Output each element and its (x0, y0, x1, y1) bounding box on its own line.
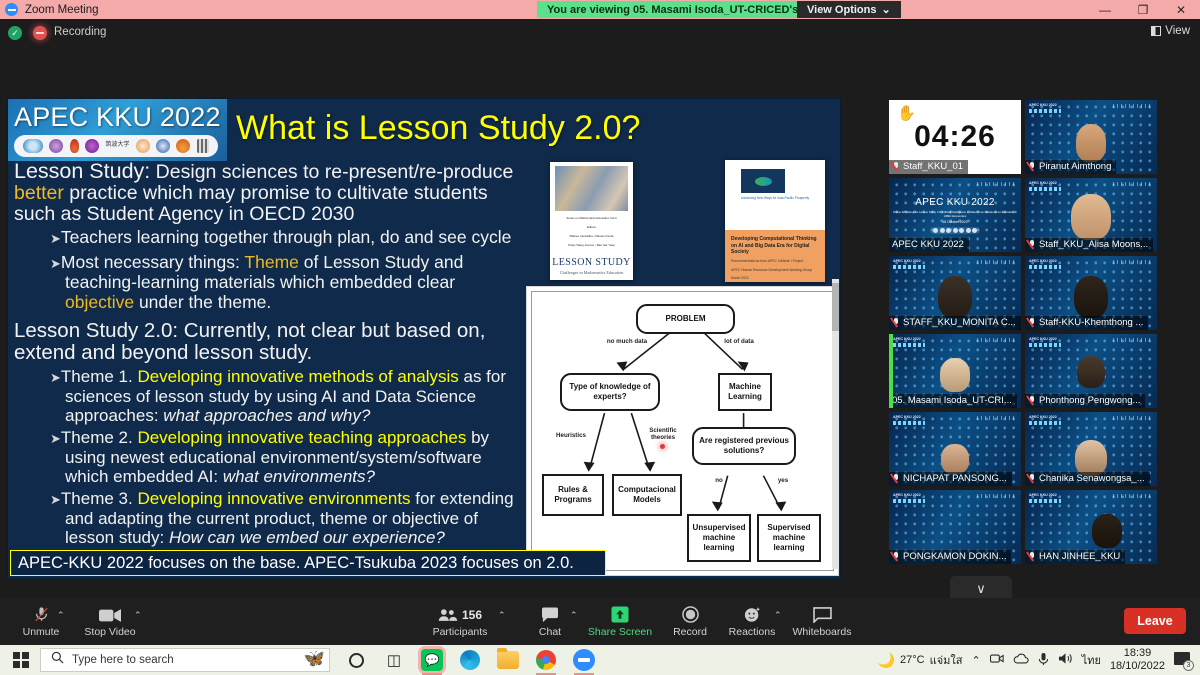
microsoft-edge-icon[interactable] (458, 648, 482, 672)
participant-tile-chanika-senawongsa[interactable]: APEC KKU 2022 Chanika Senawongsa_... (1025, 412, 1157, 486)
reactions-options-caret[interactable]: ⌃ (774, 610, 782, 621)
participant-silhouette (1077, 356, 1105, 388)
participant-tile-alisa-moons[interactable]: APEC KKU 2022 Staff_KKU_Alisa Moons... (1025, 178, 1157, 252)
slide-header: APEC KKU 2022 筑波大学 What is Lesson Study … (8, 99, 840, 161)
participant-name-label: Staff-KKU-Khemthong ... (1025, 316, 1148, 330)
theme-2-question: what environments? (223, 467, 375, 486)
book-editors-label: Editors (556, 225, 627, 229)
participant-tile-masami-isoda-active-speaker[interactable]: APEC KKU 2022 05. Masami Isoda_UT-CRI... (889, 334, 1021, 408)
participant-name-label: 05. Masami Isoda_UT-CRI... (889, 394, 1017, 408)
participant-name-text: Chanika Senawongsa_... (1039, 473, 1145, 484)
lesson-study-definition: Lesson Study: Design sciences to re-pres… (14, 161, 522, 225)
university-logo-4-icon (156, 139, 170, 153)
tray-expand-caret[interactable]: ⌃ (971, 654, 980, 667)
notification-center-icon[interactable]: 3 (1174, 652, 1192, 668)
participant-tile-staff-kku-01[interactable]: ✋ 04:26 Staff_KKU_01 (889, 100, 1021, 174)
mic-muted-icon (892, 551, 900, 562)
participant-tile-khemthong[interactable]: APEC KKU 2022 Staff-KKU-Khemthong ... (1025, 256, 1157, 330)
chat-label: Chat (539, 626, 561, 638)
close-button[interactable]: ✕ (1162, 0, 1200, 19)
bullet-most-necessary-things: ➤Most necessary things: Theme of Lesson … (50, 253, 522, 313)
apec-emblem-icon (741, 169, 785, 193)
participant-silhouette (938, 276, 972, 318)
flow-edge-heuristics: Heuristics (548, 432, 594, 439)
book-group-label: APEC Human Resource Development Working … (731, 268, 819, 273)
mic-muted-icon (1028, 239, 1036, 250)
view-options-label: View Options (807, 4, 876, 16)
bullet-2-highlight-theme: Theme (244, 252, 298, 272)
participant-name-label: PONGKAMON DOKIN... (889, 550, 1011, 564)
view-layout-button[interactable]: View (1151, 25, 1190, 37)
mic-muted-icon (1028, 473, 1036, 484)
mic-muted-icon (892, 161, 900, 172)
participant-silhouette (940, 358, 970, 392)
slide-body: Lesson Study: Design sciences to re-pres… (8, 161, 840, 578)
zoom-control-toolbar: Unmute ⌃ Stop Video ⌃ (0, 598, 1200, 645)
line-app-icon[interactable]: 💬 (420, 648, 444, 672)
whiteboards-button[interactable]: Whiteboards (786, 602, 858, 642)
participant-name-text: 05. Masami Isoda_UT-CRI... (892, 395, 1012, 406)
whiteboards-label: Whiteboards (793, 626, 852, 638)
university-logo-3-icon (136, 139, 150, 153)
view-options-button[interactable]: View Options ⌄ (797, 1, 901, 18)
participant-name-label: APEC KKU 2022 (889, 238, 969, 252)
theme-1-highlight: Developing innovative methods of analysi… (137, 367, 458, 386)
sponsor-logo-bar: 筑波大学 (14, 135, 218, 157)
participants-options-caret[interactable]: ⌃ (498, 610, 506, 621)
participant-name-label: Staff_KKU_Alisa Moons... (1025, 238, 1153, 252)
participant-name-text: APEC KKU 2022 (892, 239, 964, 250)
share-screen-icon (611, 606, 629, 623)
ai-decision-flowchart: PROBLEM no much data lot of data Type of… (526, 286, 839, 576)
system-tray: 🌙 27°C แจ่มใส ⌃ (878, 647, 1200, 673)
participant-name-text: NICHAPAT PANSONG... (903, 473, 1007, 484)
record-circle-icon (682, 606, 699, 623)
bullet-2-text-c: under the theme. (134, 292, 271, 312)
theme-3-highlight: Developing innovative environments (137, 489, 410, 508)
clock-time: 18:39 (1110, 647, 1165, 660)
flow-node-supervised-learning: Supervised machine learning (757, 514, 821, 562)
recording-indicator-icon[interactable] (33, 26, 47, 40)
participant-silhouette (1076, 124, 1106, 162)
partner-logo-icon (197, 139, 209, 153)
leave-meeting-button[interactable]: Leave (1124, 608, 1186, 634)
file-explorer-icon[interactable] (496, 648, 520, 672)
participant-name-text: Staff_KKU_Alisa Moons... (1039, 239, 1148, 250)
mic-muted-icon (1028, 317, 1036, 328)
flow-node-rules-programs: Rules & Programs (542, 474, 604, 516)
participant-name-text: STAFF_KKU_MONITA C... (903, 317, 1016, 328)
view-label: View (1165, 25, 1190, 37)
meeting-status-bar: ✓ Recording View (0, 19, 1200, 47)
lesson-study-bullets: ➤Teachers learning together through plan… (50, 228, 522, 312)
participant-tile-apec-kku-2022[interactable]: APEC KKU 2022 Online Workshop for Lesson… (889, 178, 1021, 252)
theme-3-question: How can we embed our experience? (169, 528, 445, 547)
participants-icon-group: 156 (438, 606, 482, 623)
search-icon (51, 651, 64, 669)
unmute-button[interactable]: Unmute (5, 602, 77, 642)
bullet-1-text: Teachers learning together through plan,… (61, 227, 511, 247)
laser-pointer-dot-icon (660, 444, 665, 449)
participant-tile-han-jinhee[interactable]: APEC KKU 2022 HAN JINHEE_KKU (1025, 490, 1157, 564)
microphone-muted-icon (33, 606, 50, 623)
audio-options-caret[interactable]: ⌃ (57, 610, 65, 621)
participant-name-label: STAFF_KKU_MONITA C... (889, 316, 1021, 330)
bullet-theme-2: ➤Theme 2. Developing innovative teaching… (50, 428, 522, 486)
title-slide-date: 18 October 2022 (942, 220, 967, 224)
theme-1-question: what approaches and why? (163, 406, 370, 425)
flow-node-computational-models: Computacional Models (612, 474, 682, 516)
flow-node-machine-learning: Machine Learning (718, 373, 772, 411)
participant-name-text: Staff_KKU_01 (903, 161, 963, 172)
flow-node-unsupervised-learning: Unsupervised machine learning (687, 514, 751, 562)
university-logo-1-icon (49, 139, 63, 153)
participant-tile-pongkamon-dokin[interactable]: APEC KKU 2022 PONGKAMON DOKIN... (889, 490, 1021, 564)
flow-node-type-of-knowledge: Type of knowledge of experts? (560, 373, 660, 411)
bullet-theme-3: ➤Theme 3. Developing innovative environm… (50, 489, 522, 547)
bullet-arrow-icon: ➤ (50, 256, 61, 271)
bullet-arrow-icon: ➤ (50, 492, 61, 507)
slide-text-column: Lesson Study: Design sciences to re-pres… (14, 161, 522, 550)
book-covers: Series on Mathematics Education Vol.3 Ed… (526, 160, 839, 282)
apec-logo-icon (23, 139, 43, 153)
flow-node-registered-solutions: Are registered previous solutions? (692, 427, 796, 465)
theme-2-label: Theme 2. (61, 428, 138, 447)
slide-caption-banner: APEC-KKU 2022 focuses on the base. APEC-… (10, 550, 606, 576)
onedrive-tray-icon[interactable] (1013, 653, 1029, 667)
people-icon (438, 608, 458, 622)
flowchart-canvas: PROBLEM no much data lot of data Type of… (531, 291, 834, 571)
participant-name-label: HAN JINHEE_KKU (1025, 550, 1125, 564)
book-date-label: March 2021 (731, 276, 819, 281)
window-title-bar: Zoom Meeting You are viewing 05. Masami … (0, 0, 1200, 19)
book-subtitle-computational-thinking: Recommendations from APEC InMside I Proj… (731, 259, 819, 264)
tsukuba-univ-label-icon: 筑波大学 (105, 139, 129, 153)
volume-tray-icon[interactable] (1058, 652, 1073, 668)
mic-muted-icon (1028, 551, 1036, 562)
clock-date: 18/10/2022 (1110, 660, 1165, 673)
zoom-meeting-window: Zoom Meeting You are viewing 05. Masami … (0, 0, 1200, 675)
book-cover-computational-thinking: Advancing New Ways for Asia-Pacific Pros… (725, 160, 825, 282)
maximize-button[interactable]: ❐ (1124, 0, 1162, 19)
title-slide-logo-row (930, 227, 980, 234)
share-screen-button[interactable]: Share Screen (584, 602, 656, 642)
mic-muted-icon (892, 473, 900, 484)
mic-muted-icon (1028, 161, 1036, 172)
bullet-arrow-icon: ➤ (50, 231, 61, 246)
flow-node-problem: PROBLEM (636, 304, 735, 334)
participant-silhouette (1092, 514, 1122, 548)
bullet-2-text-a: Most necessary things: (61, 252, 245, 272)
flow-edge-no-much-data: no much data (592, 338, 662, 345)
record-label: Record (673, 626, 707, 638)
slide-scrollbar[interactable] (832, 279, 839, 569)
mic-muted-icon (892, 317, 900, 328)
lesson-study-label: Lesson Study: (14, 159, 150, 183)
taskbar-clock[interactable]: 18:39 18/10/2022 (1110, 647, 1165, 673)
flame-logo-icon (70, 139, 79, 153)
window-title: Zoom Meeting (25, 4, 99, 16)
cortana-icon[interactable] (344, 648, 368, 672)
task-view-icon[interactable]: ◫ (382, 648, 406, 672)
chat-bubble-icon (541, 606, 559, 623)
minimize-button[interactable]: — (1086, 0, 1124, 19)
book-series-label: Series on Mathematics Education Vol.3 (556, 216, 627, 220)
flow-edge-lot-of-data: lot of data (704, 338, 774, 345)
weather-widget[interactable]: 🌙 27°C แจ่มใส (878, 651, 963, 669)
theme-2-highlight: Developing innovative teaching approache… (137, 428, 466, 447)
participant-name-label: Piranut Aimthong (1025, 160, 1116, 174)
participants-count: 156 (462, 608, 482, 622)
slide-title: What is Lesson Study 2.0? (236, 103, 640, 153)
participant-tile-piranut-aimthong[interactable]: APEC KKU 2022 Piranut Aimthong (1025, 100, 1157, 174)
participants-label: Participants (433, 626, 488, 638)
weather-condition: แจ่มใส (930, 651, 963, 669)
bullet-arrow-icon: ➤ (50, 431, 61, 446)
participant-tile-phonthong-pengwong[interactable]: APEC KKU 2022 Phonthong Pengwong... (1025, 334, 1157, 408)
zoom-main-frame: ✓ Recording View APEC KKU 2022 筑波大学 (0, 19, 1200, 645)
mic-muted-icon (1028, 395, 1036, 406)
chat-options-caret[interactable]: ⌃ (570, 610, 578, 621)
book-subtitle-lesson-study: Challenges in Mathematics Education (550, 270, 633, 275)
classroom-photo (555, 166, 628, 211)
participant-name-text: Staff-KKU-Khemthong ... (1039, 317, 1143, 328)
apec-brand-text: APEC KKU 2022 (14, 101, 227, 133)
search-placeholder-text: Type here to search (72, 654, 174, 666)
book-editors-2: Patsy Wang-Iverson • Ban Har Yeap (556, 243, 627, 247)
participant-name-label: NICHAPAT PANSONG... (889, 472, 1012, 486)
participant-name-text: Phonthong Pengwong... (1039, 395, 1140, 406)
chevron-down-icon: ⌄ (881, 3, 890, 16)
lesson-study-highlight-better: better (14, 182, 64, 204)
participant-name-label: Chanika Senawongsa_... (1025, 472, 1150, 486)
bullet-teachers-learning: ➤Teachers learning together through plan… (50, 228, 522, 249)
theme-bullets: ➤Theme 1. Developing innovative methods … (50, 367, 522, 547)
book-title-computational-thinking: Developing Computational Thinking on AI … (731, 236, 819, 256)
apec-cover-caption: Advancing New Ways for Asia-Pacific Pros… (741, 196, 825, 200)
bullet-arrow-icon: ➤ (50, 370, 61, 385)
shared-screen-slide[interactable]: APEC KKU 2022 筑波大学 What is Lesson Study … (8, 99, 840, 578)
book-title-lesson-study: LESSON STUDY (550, 257, 633, 268)
participant-tile-nichapat-pansong[interactable]: APEC KKU 2022 NICHAPAT PANSONG... (889, 412, 1021, 486)
google-chrome-icon[interactable] (534, 648, 558, 672)
title-slide-heading: APEC KKU 2022 (915, 197, 995, 208)
notification-count-badge: 3 (1183, 660, 1194, 671)
bullet-2-highlight-objective: objective (65, 292, 134, 312)
flow-edge-scientific-theories: Scientific theories (640, 427, 686, 441)
chat-button[interactable]: Chat (514, 602, 586, 642)
participant-name-label: Staff_KKU_01 (889, 160, 968, 174)
participant-silhouette (941, 444, 969, 474)
lesson-study-20-definition: Lesson Study 2.0: Currently, not clear b… (14, 320, 522, 364)
lesson-study-text-b: practice which may promise to cultivate … (14, 182, 488, 225)
apec-brand-block: APEC KKU 2022 筑波大学 (8, 99, 227, 161)
participant-name-text: PONGKAMON DOKIN... (903, 551, 1006, 562)
share-screen-label: Share Screen (588, 626, 652, 638)
book-editors-1: Maitree Inprasitha • Masami Isoda (556, 234, 627, 238)
recording-label: Recording (54, 26, 106, 38)
bullet-theme-1: ➤Theme 1. Developing innovative methods … (50, 367, 522, 425)
whiteboard-icon (813, 606, 832, 623)
participant-name-text: Piranut Aimthong (1039, 161, 1111, 172)
reactions-label: Reactions (729, 626, 776, 638)
participant-name-text: HAN JINHEE_KKU (1039, 551, 1120, 562)
university-logo-2-icon (85, 139, 99, 153)
encryption-shield-icon[interactable]: ✓ (8, 26, 22, 40)
flow-edge-yes: yes (772, 477, 794, 484)
lesson-study-text-a: Design sciences to re-present/re-produce (150, 161, 513, 183)
windows-taskbar: Type here to search 🦋 ◫ 💬 🌙 27°C แจ่มใส … (0, 645, 1200, 675)
windows-search-box[interactable]: Type here to search 🦋 (40, 648, 330, 672)
reactions-button[interactable]: Reactions (716, 602, 788, 642)
language-indicator[interactable]: ไทย (1082, 651, 1101, 669)
grid-view-icon (1151, 26, 1161, 36)
participant-name-label: Phonthong Pengwong... (1025, 394, 1145, 408)
participants-button[interactable]: 156 Participants (424, 602, 496, 642)
moon-weather-icon: 🌙 (878, 652, 895, 669)
theme-1-label: Theme 1. (61, 367, 138, 386)
book-cover-orange-panel: Developing Computational Thinking on AI … (725, 230, 825, 282)
butterfly-decoration-icon: 🦋 (304, 649, 325, 669)
windows-start-icon[interactable] (13, 652, 29, 668)
participant-thumbnail-strip: ✋ 04:26 Staff_KKU_01 APEC KKU 2022 Piran… (889, 100, 1163, 600)
camera-tray-icon[interactable] (990, 653, 1004, 668)
book-cover-lesson-study: Series on Mathematics Education Vol.3 Ed… (550, 162, 633, 280)
participant-silhouette (1071, 194, 1111, 240)
zoom-app-icon (5, 3, 18, 16)
participant-tile-monita-c[interactable]: APEC KKU 2022 STAFF_KKU_MONITA C... (889, 256, 1021, 330)
zoom-taskbar-icon[interactable] (572, 648, 596, 672)
video-options-caret[interactable]: ⌃ (134, 610, 142, 621)
slide-scrollbar-thumb[interactable] (832, 283, 839, 331)
unmute-label: Unmute (23, 626, 60, 638)
weather-temperature: 27°C (900, 654, 925, 666)
microphone-tray-icon[interactable] (1038, 652, 1049, 669)
participant-silhouette (1074, 276, 1108, 318)
video-camera-icon (99, 606, 121, 623)
university-logo-5-icon (176, 139, 190, 153)
reactions-smiley-icon (744, 606, 761, 623)
stop-video-button[interactable]: Stop Video (74, 602, 146, 642)
participant-silhouette (1075, 440, 1107, 476)
stop-video-label: Stop Video (84, 626, 135, 638)
flow-edge-no: no (708, 477, 730, 484)
window-controls: — ❐ ✕ (1086, 0, 1200, 19)
theme-3-label: Theme 3. (61, 489, 138, 508)
title-slide-subtitle: Online Workshop for Lesson Study 2.0 Art… (889, 210, 1021, 218)
